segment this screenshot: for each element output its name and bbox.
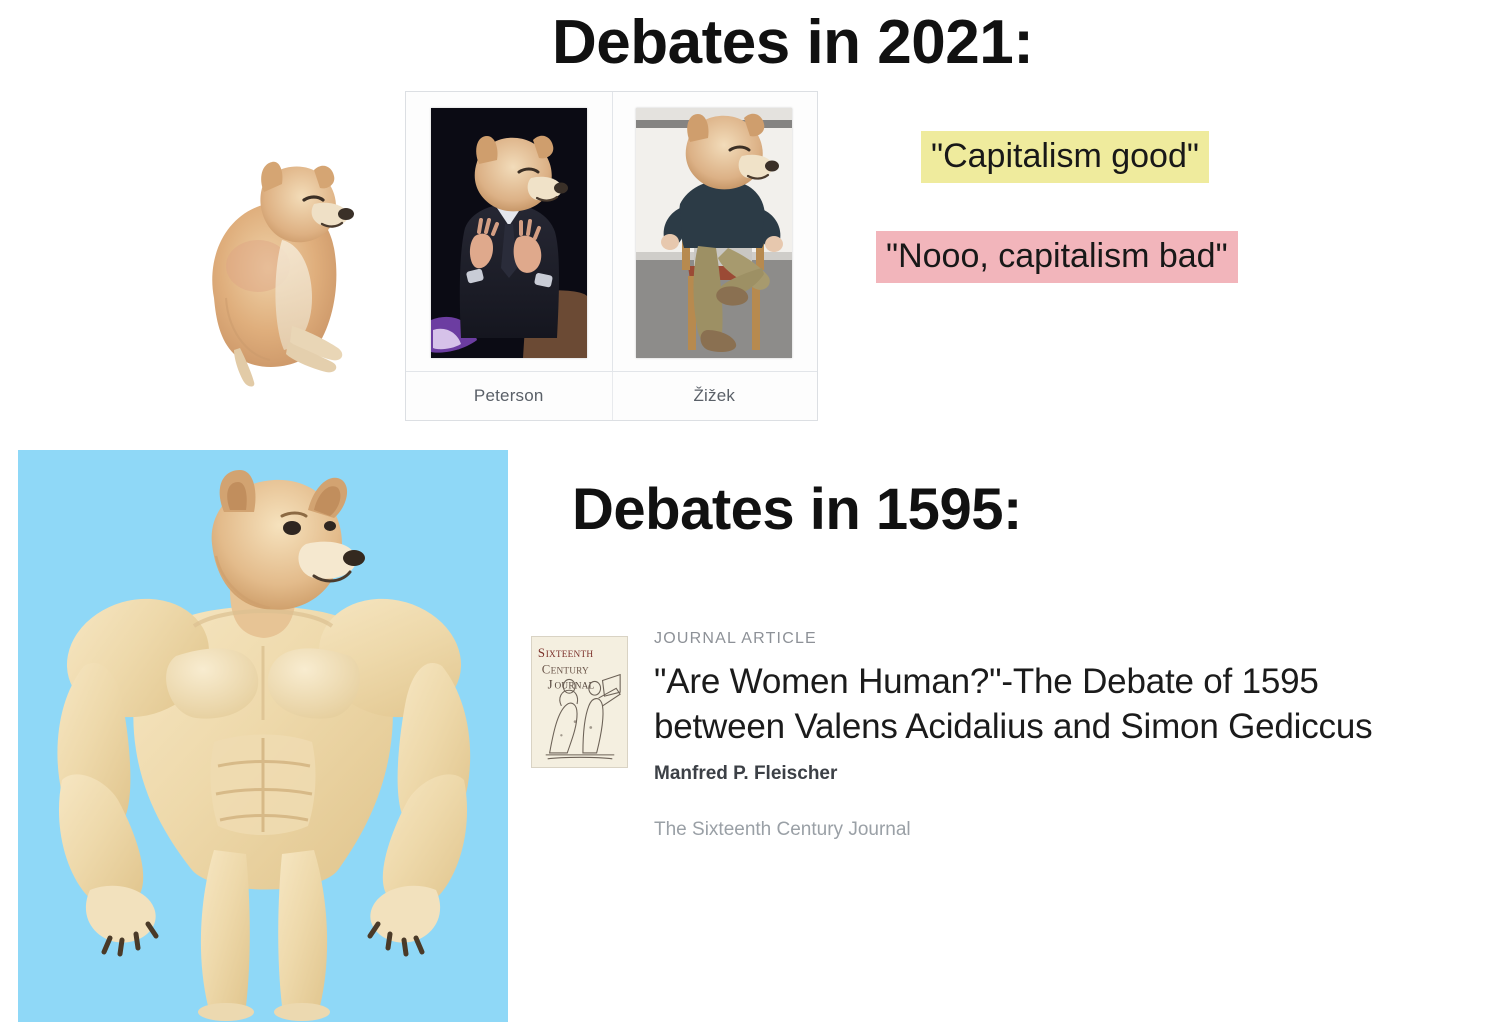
quote-capitalism-bad: "Nooo, capitalism bad" (876, 231, 1238, 283)
card-photo-row (406, 92, 817, 371)
svg-text:IXTEENTH: IXTEENTH (546, 650, 594, 660)
citation-text-block: JOURNAL ARTICLE "Are Women Human?"-The D… (654, 630, 1481, 841)
journal-citation-card[interactable]: S IXTEENTH C ENTURY J OURNAL (531, 630, 1481, 841)
caption-peterson: Peterson (406, 372, 612, 420)
peterson-photo (431, 108, 587, 358)
debate-comparison-card[interactable]: Peterson Žižek (405, 91, 818, 421)
svg-text:ENTURY: ENTURY (551, 667, 589, 677)
citation-journal-name[interactable]: The Sixteenth Century Journal (654, 819, 1481, 841)
citation-type-label: JOURNAL ARTICLE (654, 630, 1481, 648)
meme-canvas: { "panels": { "top": { "title": "Debates… (0, 0, 1500, 1022)
page-title-2021: Debates in 2021: (552, 8, 1033, 78)
card-caption-row: Peterson Žižek (406, 371, 817, 420)
card-vertical-divider (612, 92, 613, 371)
svg-text:S: S (538, 646, 545, 660)
quote-capitalism-good: "Capitalism good" (921, 131, 1209, 183)
page-title-1595: Debates in 1595: (572, 476, 1022, 544)
svg-text:J: J (548, 677, 553, 691)
caption-vertical-divider (612, 372, 613, 420)
swole-doge-image (18, 450, 508, 1022)
zizek-photo (636, 108, 792, 358)
caption-zizek: Žižek (612, 372, 818, 420)
swole-doge-panel (18, 450, 508, 1022)
citation-title[interactable]: "Are Women Human?"-The Debate of 1595 be… (654, 659, 1454, 749)
card-panel-zizek[interactable] (612, 92, 818, 371)
citation-author: Manfred P. Fleischer (654, 763, 1481, 785)
svg-text:C: C (542, 663, 551, 677)
journal-cover-thumbnail[interactable]: S IXTEENTH C ENTURY J OURNAL (531, 636, 628, 768)
card-panel-peterson[interactable] (406, 92, 612, 371)
cheems-doge-image (196, 148, 368, 388)
